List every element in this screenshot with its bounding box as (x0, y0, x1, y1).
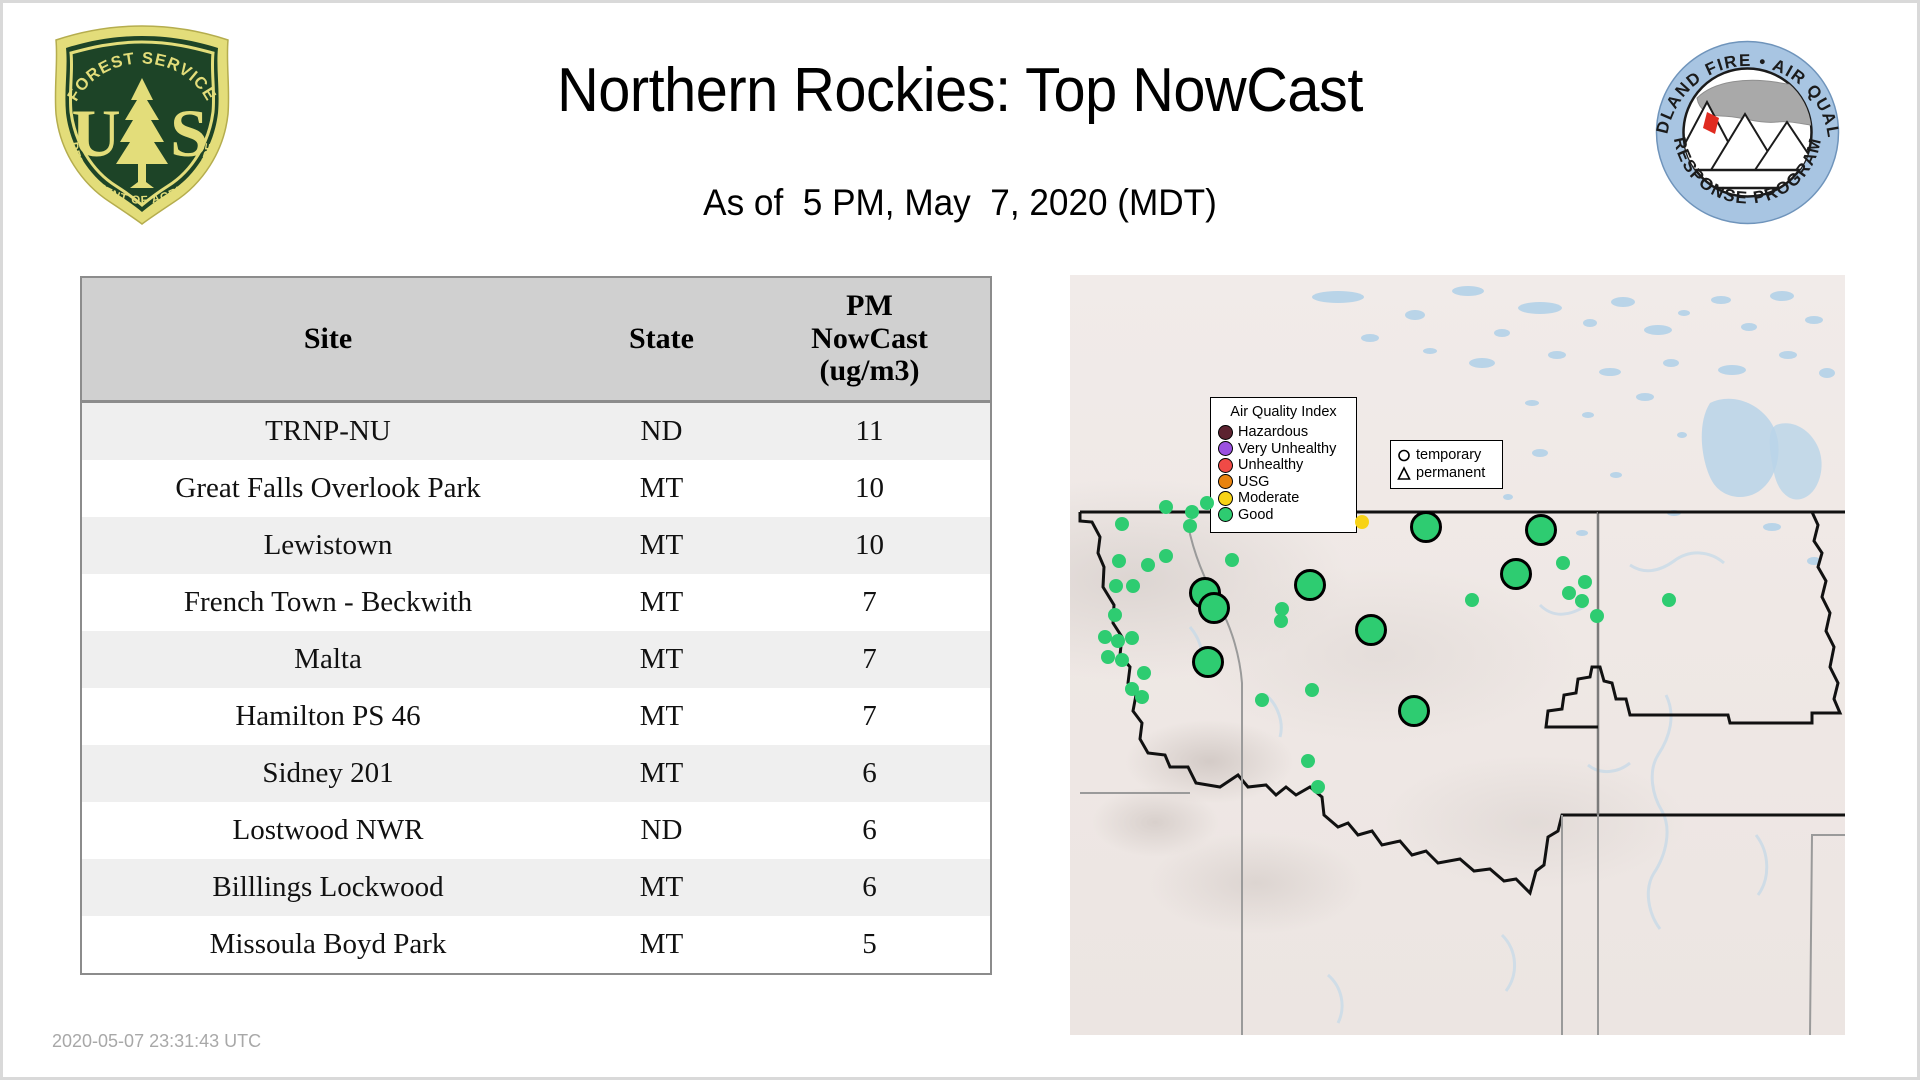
wfaqrp-logo: WILDLAND FIRE • AIR QUALITY RESPONSE PRO… (1645, 30, 1850, 235)
legend-permanent-label: permanent (1416, 464, 1485, 482)
monitor-marker[interactable] (1108, 608, 1122, 622)
triangle-outline-icon (1397, 466, 1411, 481)
monitor-marker[interactable] (1112, 554, 1126, 568)
monitor-marker[interactable] (1398, 695, 1430, 727)
pm-nowcast-cell: 7 (749, 688, 991, 745)
monitor-marker[interactable] (1183, 519, 1197, 533)
aqi-legend-items: HazardousVery UnhealthyUnhealthyUSGModer… (1218, 424, 1349, 523)
table-row[interactable]: Great Falls Overlook ParkMT10 (81, 460, 991, 517)
aqi-legend: Air Quality Index HazardousVery Unhealth… (1210, 397, 1357, 533)
state-cell: ND (574, 802, 749, 859)
aqi-color-swatch (1218, 458, 1233, 473)
pm-nowcast-cell: 7 (749, 574, 991, 631)
fs-letter-s: S (170, 95, 208, 171)
monitor-marker[interactable] (1662, 593, 1676, 607)
monitor-marker[interactable] (1198, 592, 1230, 624)
pm-nowcast-cell: 6 (749, 859, 991, 916)
state-cell: MT (574, 460, 749, 517)
forest-service-logo: FOREST SERVICE DEPARTMENT OF AGRICULTURE… (42, 22, 242, 227)
monitor-marker[interactable] (1465, 593, 1479, 607)
column-header-pm-nowcast[interactable]: PM NowCast (ug/m3) (749, 277, 991, 402)
site-cell: Lewistown (81, 517, 574, 574)
monitor-marker[interactable] (1562, 586, 1576, 600)
aqi-legend-row: Hazardous (1218, 424, 1349, 441)
table-row[interactable]: Hamilton PS 46MT7 (81, 688, 991, 745)
table-body: TRNP-NUND11Great Falls Overlook ParkMT10… (81, 402, 991, 975)
pm-nowcast-cell: 10 (749, 460, 991, 517)
legend-temporary-label: temporary (1416, 446, 1481, 464)
monitor-marker[interactable] (1192, 646, 1224, 678)
aqi-legend-label: Good (1238, 507, 1273, 524)
aqi-legend-row: Unhealthy (1218, 457, 1349, 474)
aqi-legend-label: Unhealthy (1238, 457, 1303, 474)
monitor-marker[interactable] (1141, 558, 1155, 572)
monitor-marker[interactable] (1135, 690, 1149, 704)
monitor-marker[interactable] (1355, 515, 1369, 529)
monitor-marker[interactable] (1311, 780, 1325, 794)
water-bodies (1312, 286, 1835, 565)
monitor-marker[interactable] (1185, 505, 1199, 519)
nowcast-table-container: Site State PM NowCast (ug/m3) TRNP-NUND1… (80, 276, 990, 975)
page-subtitle: As of 5 PM, May 7, 2020 (MDT) (295, 182, 1625, 224)
state-cell: MT (574, 916, 749, 974)
fs-letter-u: U (71, 95, 120, 171)
monitor-marker[interactable] (1410, 511, 1442, 543)
legend-permanent-row: permanent (1397, 464, 1496, 482)
monitor-type-legend: temporary permanent (1390, 440, 1503, 489)
aqi-color-swatch (1218, 491, 1233, 506)
pm-nowcast-cell: 5 (749, 916, 991, 974)
generation-timestamp: 2020-05-07 23:31:43 UTC (52, 1031, 261, 1052)
table-row[interactable]: LewistownMT10 (81, 517, 991, 574)
state-cell: MT (574, 574, 749, 631)
monitor-marker[interactable] (1125, 631, 1139, 645)
monitor-marker[interactable] (1109, 579, 1123, 593)
monitor-marker[interactable] (1126, 579, 1140, 593)
state-cell: MT (574, 745, 749, 802)
monitor-marker[interactable] (1301, 754, 1315, 768)
aqi-legend-row: Good (1218, 507, 1349, 524)
monitor-marker[interactable] (1578, 575, 1592, 589)
site-cell: TRNP-NU (81, 402, 574, 461)
monitor-marker[interactable] (1355, 614, 1387, 646)
monitor-marker[interactable] (1305, 683, 1319, 697)
column-header-state[interactable]: State (574, 277, 749, 402)
monitor-marker[interactable] (1556, 556, 1570, 570)
site-cell: Missoula Boyd Park (81, 916, 574, 974)
table-row[interactable]: Billlings LockwoodMT6 (81, 859, 991, 916)
state-cell: MT (574, 631, 749, 688)
monitor-marker[interactable] (1101, 650, 1115, 664)
site-cell: Great Falls Overlook Park (81, 460, 574, 517)
table-row[interactable]: Missoula Boyd ParkMT5 (81, 916, 991, 974)
aqi-legend-label: Hazardous (1238, 424, 1308, 441)
site-cell: Lostwood NWR (81, 802, 574, 859)
monitor-marker[interactable] (1590, 609, 1604, 623)
monitor-marker[interactable] (1500, 558, 1532, 590)
state-cell: ND (574, 402, 749, 461)
pm-header-line-2: NowCast (753, 323, 986, 355)
circle-outline-icon (1397, 448, 1411, 463)
page-title: Northern Rockies: Top NowCast (309, 60, 1611, 122)
sd-east-boundary (1810, 835, 1845, 1035)
site-cell: Hamilton PS 46 (81, 688, 574, 745)
monitor-marker[interactable] (1294, 569, 1326, 601)
monitor-marker[interactable] (1098, 630, 1112, 644)
aqi-legend-row: USG (1218, 474, 1349, 491)
site-cell: French Town - Beckwith (81, 574, 574, 631)
pm-nowcast-cell: 7 (749, 631, 991, 688)
monitor-marker[interactable] (1159, 549, 1173, 563)
map-vector-layer (1070, 275, 1845, 1035)
aqi-legend-title: Air Quality Index (1218, 404, 1349, 420)
state-cell: MT (574, 859, 749, 916)
pm-nowcast-cell: 6 (749, 802, 991, 859)
aqi-color-swatch (1218, 425, 1233, 440)
table-header-row: Site State PM NowCast (ug/m3) (81, 277, 991, 402)
aqi-legend-row: Very Unhealthy (1218, 441, 1349, 458)
aqi-color-swatch (1218, 441, 1233, 456)
montana-state-outline (1080, 512, 1845, 893)
pm-nowcast-cell: 10 (749, 517, 991, 574)
pm-nowcast-cell: 11 (749, 402, 991, 461)
legend-temporary-row: temporary (1397, 446, 1496, 464)
state-cell: MT (574, 688, 749, 745)
monitor-marker[interactable] (1111, 634, 1125, 648)
monitor-marker[interactable] (1137, 666, 1151, 680)
site-cell: Billlings Lockwood (81, 859, 574, 916)
aqi-legend-row: Moderate (1218, 490, 1349, 507)
aqi-legend-label: Moderate (1238, 490, 1299, 507)
pm-header-line-1: PM (753, 290, 986, 322)
aqi-color-swatch (1218, 474, 1233, 489)
monitor-marker[interactable] (1525, 514, 1557, 546)
monitor-marker[interactable] (1115, 653, 1129, 667)
nowcast-table: Site State PM NowCast (ug/m3) TRNP-NUND1… (80, 276, 992, 975)
monitor-marker[interactable] (1575, 594, 1589, 608)
pm-nowcast-cell: 6 (749, 745, 991, 802)
aqi-legend-label: USG (1238, 474, 1269, 491)
pm-header-line-3: (ug/m3) (753, 355, 986, 387)
monitor-marker[interactable] (1225, 553, 1239, 567)
table-row[interactable]: MaltaMT7 (81, 631, 991, 688)
monitor-marker[interactable] (1200, 496, 1214, 510)
site-cell: Sidney 201 (81, 745, 574, 802)
site-cell: Malta (81, 631, 574, 688)
monitor-marker[interactable] (1274, 614, 1288, 628)
table-row[interactable]: French Town - BeckwithMT7 (81, 574, 991, 631)
table-row[interactable]: Lostwood NWRND6 (81, 802, 991, 859)
monitor-marker[interactable] (1115, 517, 1129, 531)
table-row[interactable]: TRNP-NUND11 (81, 402, 991, 461)
air-quality-map[interactable]: Air Quality Index HazardousVery Unhealth… (1070, 275, 1845, 1035)
column-header-site[interactable]: Site (81, 277, 574, 402)
monitor-marker[interactable] (1159, 500, 1173, 514)
monitor-marker[interactable] (1255, 693, 1269, 707)
table-row[interactable]: Sidney 201MT6 (81, 745, 991, 802)
state-cell: MT (574, 517, 749, 574)
aqi-legend-label: Very Unhealthy (1238, 441, 1336, 458)
aqi-color-swatch (1218, 507, 1233, 522)
